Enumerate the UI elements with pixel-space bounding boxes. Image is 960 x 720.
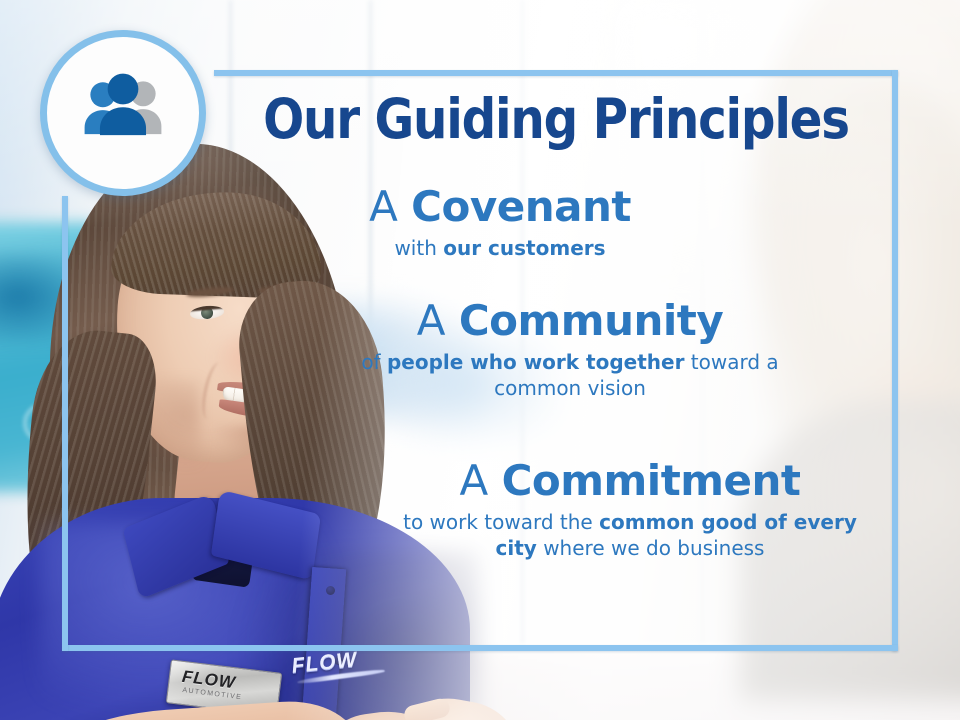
principle-heading: A Community — [330, 300, 810, 343]
principle-heading: A Commitment — [380, 460, 880, 503]
page-title: Our Guiding Principles — [255, 92, 857, 147]
subtitle-part-bold: our customers — [443, 236, 605, 260]
principle-subtitle: to work toward the common good of every … — [380, 509, 880, 562]
principle-commitment: A Commitment to work toward the common g… — [380, 460, 880, 562]
subtitle-part-normal: with — [394, 236, 443, 260]
subtitle-part-normal: where we do business — [537, 536, 765, 560]
subtitle-part-normal: of — [361, 350, 387, 374]
principle-subtitle: of people who work together toward a com… — [330, 349, 810, 402]
principle-article: A — [460, 456, 502, 505]
subtitle-part-normal: to work toward the — [403, 510, 599, 534]
principle-article: A — [417, 296, 459, 345]
principle-heading: A Covenant — [260, 186, 740, 229]
principle-keyword: Commitment — [502, 456, 801, 505]
principle-community: A Community of people who work together … — [330, 300, 810, 402]
subtitle-part-bold: people who work together — [387, 350, 685, 374]
people-group-icon — [75, 65, 171, 161]
principle-covenant: A Covenant with our customers — [260, 186, 740, 261]
principle-keyword: Community — [459, 296, 723, 345]
guiding-principles-banner: FLOW FLOW AUTOMOTIVE — [0, 0, 960, 720]
principle-subtitle: with our customers — [260, 235, 740, 261]
principle-article: A — [369, 182, 411, 231]
principle-keyword: Covenant — [411, 182, 631, 231]
people-group-badge — [40, 30, 206, 196]
